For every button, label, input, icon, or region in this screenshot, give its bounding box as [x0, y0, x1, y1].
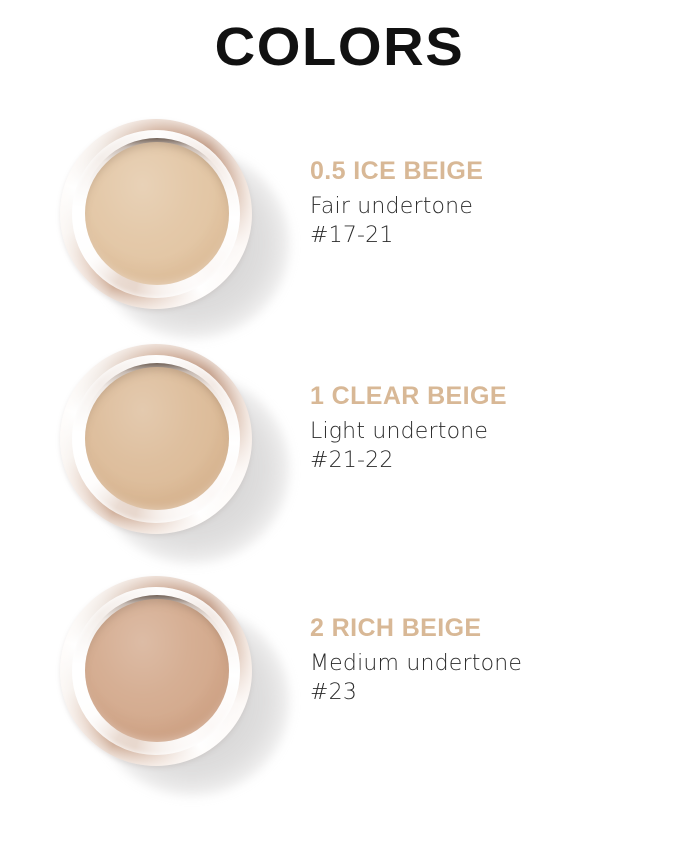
shade-name: 1 CLEAR BEIGE: [310, 382, 650, 411]
shade-name: 2 RICH BEIGE: [310, 614, 650, 643]
shade-code: #17-21: [310, 221, 650, 250]
shade-row: 0.5 ICE BEIGE Fair undertone #17-21: [0, 105, 679, 335]
product-jar[interactable]: [52, 570, 277, 785]
shade-name: 0.5 ICE BEIGE: [310, 157, 650, 186]
shade-code: #21-22: [310, 446, 650, 475]
shade-info: 1 CLEAR BEIGE Light undertone #21-22: [310, 382, 650, 476]
shade-row: 2 RICH BEIGE Medium undertone #23: [0, 562, 679, 792]
shade-description: Light undertone: [310, 417, 650, 446]
jar-cream-swatch: [85, 142, 229, 285]
product-jar[interactable]: [52, 113, 277, 328]
shade-code: #23: [310, 678, 650, 707]
shade-info: 0.5 ICE BEIGE Fair undertone #17-21: [310, 157, 650, 251]
jar-cream-swatch: [85, 367, 229, 510]
shade-description: Fair undertone: [310, 192, 650, 221]
jar-cream-swatch: [85, 599, 229, 742]
shade-info: 2 RICH BEIGE Medium undertone #23: [310, 614, 650, 708]
shade-row: 1 CLEAR BEIGE Light undertone #21-22: [0, 330, 679, 560]
shade-description: Medium undertone: [310, 649, 650, 678]
product-jar[interactable]: [52, 338, 277, 553]
page-title: COLORS: [0, 20, 679, 74]
